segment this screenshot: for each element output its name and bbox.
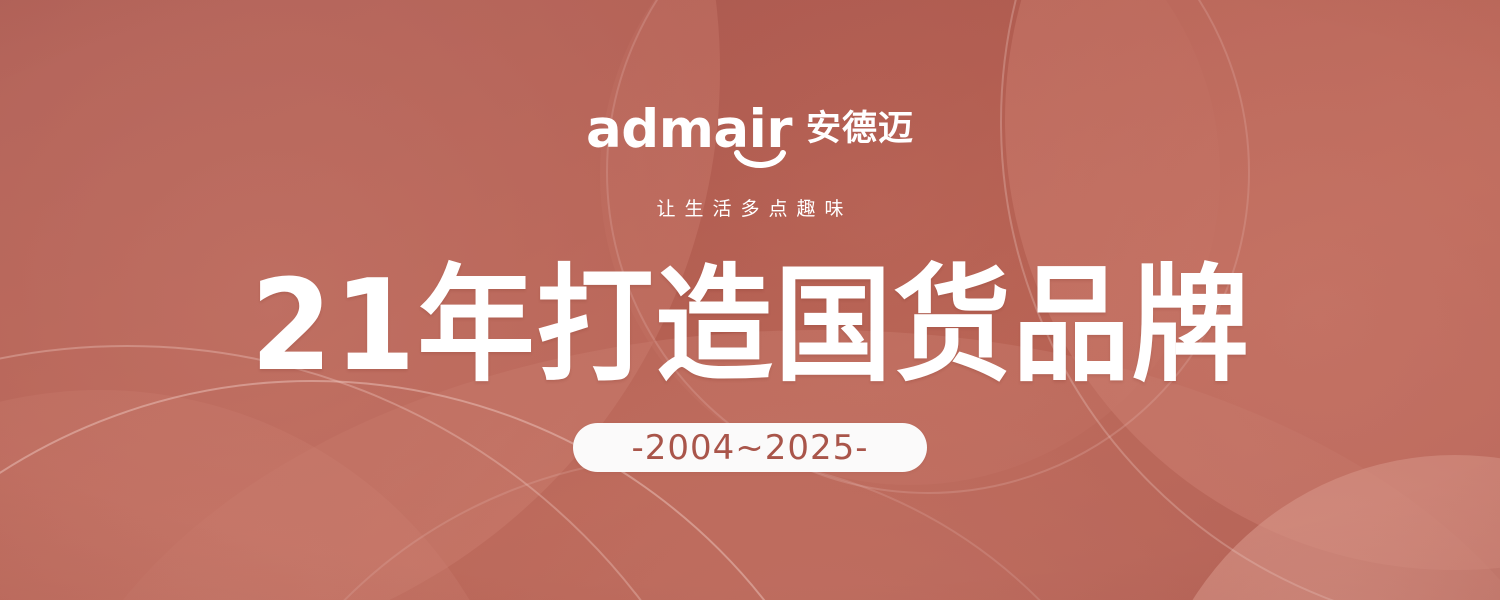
wordmark-wrap: admair <box>586 104 792 156</box>
year-range-badge: -2004~2025- <box>573 423 927 472</box>
banner-content: admair 安德迈 让生活多点趣味 21年打造国货品牌 -2004~2025- <box>0 0 1500 600</box>
brand-tagline: 让生活多点趣味 <box>647 194 852 221</box>
brand-logo: admair 安德迈 <box>586 104 914 164</box>
brand-chinese-name: 安德迈 <box>806 104 914 154</box>
headline-text: 21年打造国货品牌 <box>249 265 1251 387</box>
year-range-label: -2004~2025- <box>631 431 868 465</box>
promo-banner: admair 安德迈 让生活多点趣味 21年打造国货品牌 -2004~2025- <box>0 0 1500 600</box>
smile-curve-icon <box>734 150 786 172</box>
